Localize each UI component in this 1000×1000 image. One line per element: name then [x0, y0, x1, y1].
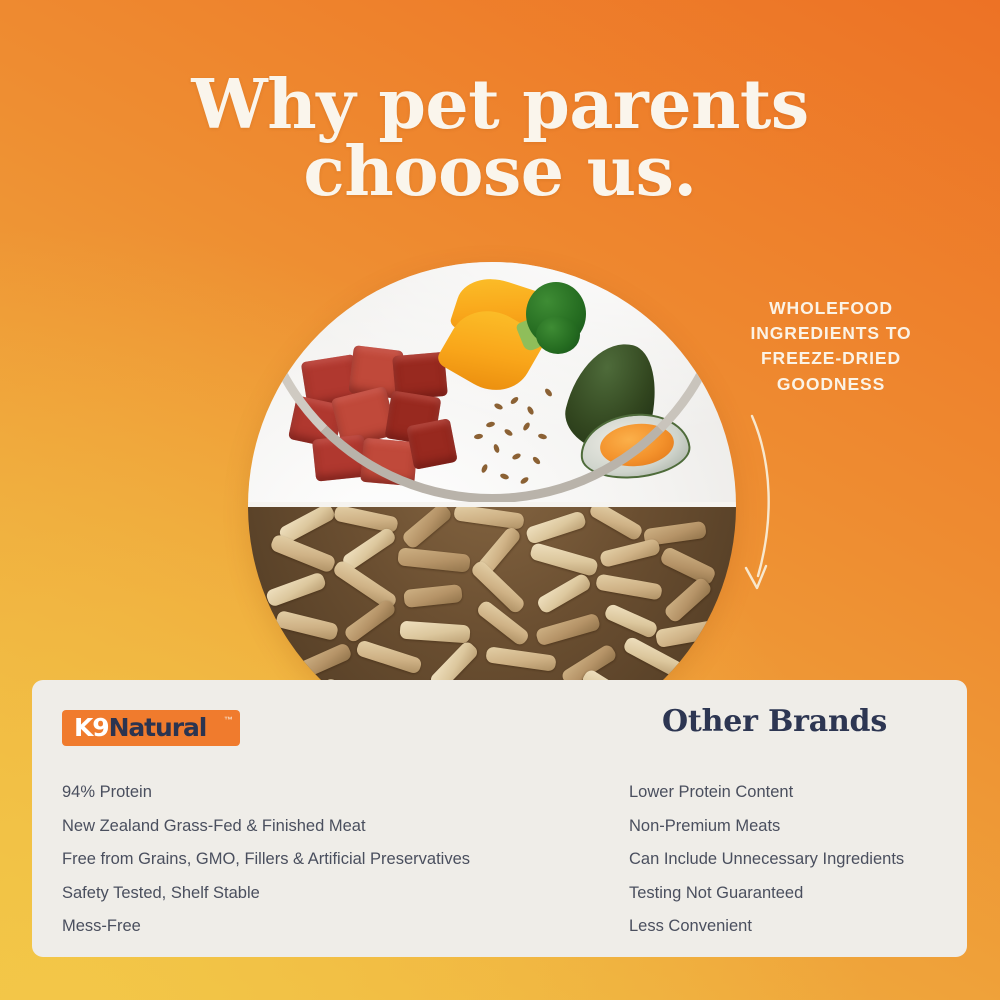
kibble-piece: [343, 598, 398, 644]
kibble-piece: [399, 621, 470, 644]
callout-text: WHOLEFOOD INGREDIENTS TO FREEZE-DRIED GO…: [700, 296, 962, 397]
list-item: Safety Tested, Shelf Stable: [62, 877, 470, 911]
list-item: New Zealand Grass-Fed & Finished Meat: [62, 810, 470, 844]
infographic-canvas: Why pet parents choose us.: [0, 0, 1000, 1000]
callout-line-3: FREEZE-DRIED: [700, 346, 962, 371]
list-item: Lower Protein Content: [629, 776, 904, 810]
list-item: Less Convenient: [629, 910, 904, 944]
image-divider: [248, 502, 736, 507]
kibble-piece: [663, 576, 714, 624]
kibble-piece: [525, 510, 587, 545]
kibble-piece: [659, 546, 717, 587]
kibble-piece: [265, 571, 327, 607]
raw-ingredients-plate: [248, 262, 736, 502]
kibble-piece: [403, 584, 463, 608]
kibble-piece: [655, 620, 717, 648]
callout-line-2: INGREDIENTS TO: [700, 321, 962, 346]
list-item: Free from Grains, GMO, Fillers & Artific…: [62, 843, 470, 877]
logo-k9-text: K9: [74, 713, 109, 742]
kibble-piece: [599, 538, 661, 568]
kibble-piece: [535, 613, 601, 647]
kibble-piece: [485, 646, 557, 672]
meat-chunk-icon: [406, 418, 458, 470]
logo-natural-text: Natural: [109, 713, 207, 742]
callout-line-4: GOODNESS: [700, 372, 962, 397]
kibble-piece: [536, 572, 593, 615]
kibble-piece: [401, 507, 454, 550]
trademark-icon: ™: [224, 715, 233, 725]
kibble-piece: [603, 603, 659, 640]
comparison-panel: K9Natural ™ Other Brands 94% Protein New…: [32, 680, 967, 957]
other-brands-column: Lower Protein Content Non-Premium Meats …: [629, 776, 904, 944]
kibble-piece: [275, 610, 339, 641]
kibble-piece: [397, 547, 470, 572]
list-item: Non-Premium Meats: [629, 810, 904, 844]
k9-benefits-list: 94% Protein New Zealand Grass-Fed & Fini…: [62, 776, 470, 944]
logo-wordmark: K9Natural: [74, 713, 206, 742]
list-item: 94% Protein: [62, 776, 470, 810]
kibble-piece: [588, 507, 644, 542]
kibble-piece: [355, 639, 423, 675]
headline-line-2: choose us.: [0, 139, 1000, 206]
list-item: Testing Not Guaranteed: [629, 877, 904, 911]
k9-natural-logo: K9Natural ™: [62, 710, 240, 746]
kibble-piece: [269, 533, 337, 573]
other-brands-list: Lower Protein Content Non-Premium Meats …: [629, 776, 904, 944]
page-title: Why pet parents choose us.: [0, 72, 1000, 207]
kibble-piece: [595, 573, 663, 600]
list-item: Can Include Unnecessary Ingredients: [629, 843, 904, 877]
other-brands-heading: Other Brands: [662, 704, 887, 739]
kibble-piece: [293, 642, 353, 681]
kibble-piece: [529, 542, 599, 577]
product-image: [248, 262, 736, 750]
kibble-piece: [453, 507, 525, 530]
broccoli-floret-icon: [536, 316, 580, 354]
k9-benefits-column: 94% Protein New Zealand Grass-Fed & Fini…: [62, 776, 470, 944]
list-item: Mess-Free: [62, 910, 470, 944]
meat-chunk-icon: [312, 434, 368, 481]
callout-line-1: WHOLEFOOD: [700, 296, 962, 321]
